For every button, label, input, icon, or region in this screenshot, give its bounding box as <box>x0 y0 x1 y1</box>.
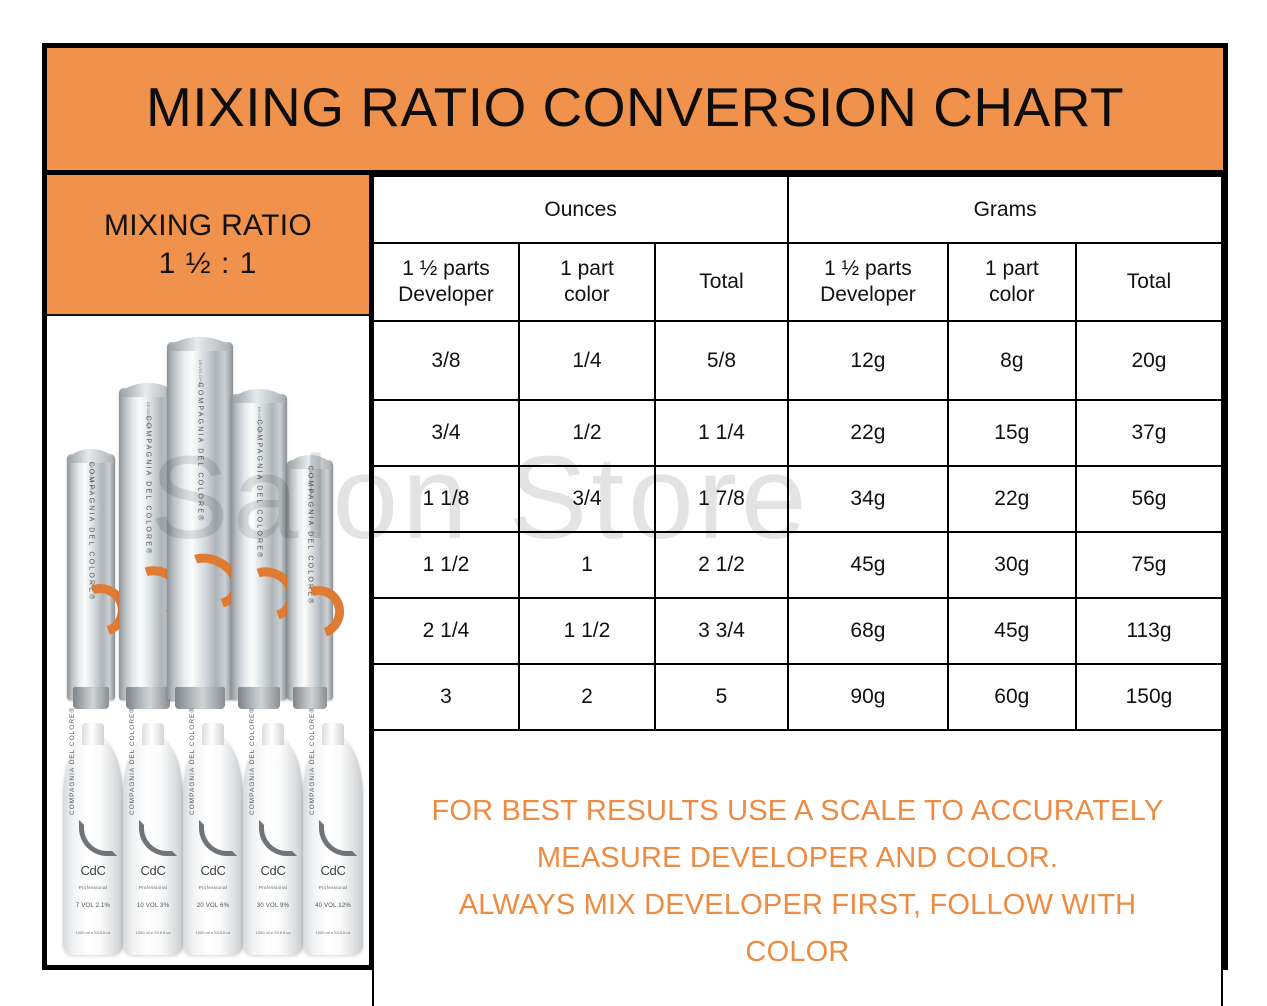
table-cell: 150g <box>1076 664 1222 730</box>
column-header-oz-developer: 1 ½ parts Developer <box>373 243 519 321</box>
column-header-oz-color: 1 part color <box>519 243 655 321</box>
chart-page: MIXING RATIO CONVERSION CHART MIXING RAT… <box>0 0 1267 1006</box>
developer-bottle: COMPAGNIA DEL COLORE® CdC Professional 4… <box>303 737 363 955</box>
bottle-volume-text: 7 VOL 2.1% <box>76 903 110 909</box>
table-cell: 3/4 <box>373 400 519 466</box>
color-tubes-photo: DEVELOPER COMPAGNIA DEL COLORE® DEVELOPE… <box>53 320 366 710</box>
tube-cap <box>73 687 109 709</box>
developer-bottle: COMPAGNIA DEL COLORE® CdC Professional 7… <box>63 737 123 955</box>
table-cell: 56g <box>1076 466 1222 532</box>
table-cell: 60g <box>948 664 1076 730</box>
color-tube: DEVELOPER COMPAGNIA DEL COLORE® <box>167 342 233 700</box>
bottle-neck <box>142 723 165 745</box>
bottle-logo-text: CdC <box>260 863 285 878</box>
footer-note-line2: MEASURE DEVELOPER AND COLOR. <box>404 835 1191 882</box>
bottle-sub-text: Professional <box>79 885 107 890</box>
bottle-neck <box>202 723 225 745</box>
table-cell: 45g <box>948 598 1076 664</box>
column-header-g-developer: 1 ½ parts Developer <box>788 243 948 321</box>
bottle-size-text: 1000 ml e 33.8 fl.oz <box>76 930 111 935</box>
bottle-logo-hook-icon <box>79 820 117 856</box>
table-cell: 3 <box>373 664 519 730</box>
bottle-volume-text: 30 VOL 9% <box>257 903 289 909</box>
bottle-neck <box>322 723 345 745</box>
table-cell: 1/2 <box>519 400 655 466</box>
bottle-logo-hook-icon <box>259 820 297 856</box>
table-cell: 1 <box>519 532 655 598</box>
footer-note-line1: FOR BEST RESULTS USE A SCALE TO ACCURATE… <box>404 788 1191 835</box>
table-cell: 30g <box>948 532 1076 598</box>
table-row: 1 1/8 3/4 1 7/8 34g 22g 56g <box>373 466 1222 532</box>
table-cell: 22g <box>948 466 1076 532</box>
column-header-row: 1 ½ parts Developer 1 part color Total <box>373 243 1222 321</box>
table-cell: 1 7/8 <box>655 466 788 532</box>
tube-brand-text: COMPAGNIA DEL COLORE® <box>307 465 314 605</box>
bottle-volume-text: 10 VOL 3% <box>137 903 169 909</box>
table-cell: 1 1/2 <box>373 532 519 598</box>
tube-brand-text: COMPAGNIA DEL COLORE® <box>256 419 263 559</box>
bottle-neck <box>82 723 105 745</box>
bottle-logo-hook-icon <box>139 820 177 856</box>
bottle-logo-text: CdC <box>80 863 105 878</box>
bottle-brand-text: COMPAGNIA DEL COLORE® <box>309 707 316 815</box>
column-header-line1: 1 part <box>951 256 1073 282</box>
table-cell: 1 1/2 <box>519 598 655 664</box>
table-cell: 2 1/4 <box>373 598 519 664</box>
table-cell: 2 <box>519 664 655 730</box>
color-tube: DEVELOPER COMPAGNIA DEL COLORE® <box>231 394 287 700</box>
tube-cap <box>126 687 170 709</box>
table-cell: 113g <box>1076 598 1222 664</box>
column-header-line1: 1 part <box>522 256 652 282</box>
product-photo-panel: DEVELOPER COMPAGNIA DEL COLORE® DEVELOPE… <box>47 314 369 965</box>
column-header-oz-total: Total <box>655 243 788 321</box>
mixing-ratio-chart: MIXING RATIO CONVERSION CHART MIXING RAT… <box>42 43 1228 970</box>
column-header-g-total: Total <box>1076 243 1222 321</box>
table-cell: 1/4 <box>519 321 655 400</box>
column-header-line1: 1 ½ parts <box>791 256 945 282</box>
table-cell: 45g <box>788 532 948 598</box>
developer-bottle: COMPAGNIA DEL COLORE® CdC Professional 2… <box>183 737 243 955</box>
tube-brand-text: COMPAGNIA DEL COLORE® <box>145 415 152 555</box>
tube-cap <box>293 687 328 709</box>
bottle-brand-text: COMPAGNIA DEL COLORE® <box>129 707 136 815</box>
table-cell: 15g <box>948 400 1076 466</box>
table-row: 2 1/4 1 1/2 3 3/4 68g 45g 113g <box>373 598 1222 664</box>
table-cell: 5/8 <box>655 321 788 400</box>
bottle-brand-text: COMPAGNIA DEL COLORE® <box>249 707 256 815</box>
column-header-line2: color <box>951 282 1073 308</box>
bottle-logo-hook-icon <box>199 820 237 856</box>
unit-group-ounces: Ounces <box>373 176 788 243</box>
table-row: 3 2 5 90g 60g 150g <box>373 664 1222 730</box>
tube-cap <box>238 687 281 709</box>
table-cell: 3/4 <box>519 466 655 532</box>
footer-note: FOR BEST RESULTS USE A SCALE TO ACCURATE… <box>404 788 1191 976</box>
table-cell: 1 1/4 <box>655 400 788 466</box>
column-header-line1: Total <box>1079 269 1219 295</box>
mixing-ratio-value: 1 ½ : 1 <box>159 247 258 281</box>
table-row: 3/4 1/2 1 1/4 22g 15g 37g <box>373 400 1222 466</box>
tube-brand-text: COMPAGNIA DEL COLORE® <box>88 461 95 601</box>
table-cell: 34g <box>788 466 948 532</box>
table-row: 3/8 1/4 5/8 12g 8g 20g <box>373 321 1222 400</box>
table-cell: 3 3/4 <box>655 598 788 664</box>
table-cell: 22g <box>788 400 948 466</box>
footer-note-line4: COLOR <box>404 929 1191 976</box>
chart-title-bar: MIXING RATIO CONVERSION CHART <box>47 48 1223 175</box>
column-header-g-color: 1 part color <box>948 243 1076 321</box>
bottle-size-text: 1000 ml e 33.8 fl.oz <box>256 930 291 935</box>
bottle-size-text: 1000 ml e 33.8 fl.oz <box>196 930 231 935</box>
footer-note-row: FOR BEST RESULTS USE A SCALE TO ACCURATE… <box>373 730 1222 1006</box>
bottle-volume-text: 40 VOL 12% <box>315 903 351 909</box>
table-cell: 20g <box>1076 321 1222 400</box>
bottle-sub-text: Professional <box>319 885 347 890</box>
bottle-neck <box>262 723 285 745</box>
bottle-sub-text: Professional <box>259 885 287 890</box>
bottle-logo-hook-icon <box>319 820 357 856</box>
unit-group-grams: Grams <box>788 176 1222 243</box>
column-header-line2: Developer <box>791 282 945 308</box>
developer-bottle: COMPAGNIA DEL COLORE® CdC Professional 1… <box>123 737 183 955</box>
mixing-ratio-header: MIXING RATIO 1 ½ : 1 <box>47 175 369 314</box>
page-title: MIXING RATIO CONVERSION CHART <box>146 75 1124 139</box>
left-panel: MIXING RATIO 1 ½ : 1 DEVELOPER COMPAGNIA… <box>47 175 372 965</box>
bottle-volume-text: 20 VOL 6% <box>197 903 229 909</box>
bottle-size-text: 1000 ml e 33.8 fl.oz <box>136 930 171 935</box>
tube-orange-arc <box>285 577 353 646</box>
column-header-line2: Developer <box>376 282 516 308</box>
developer-bottles-photo: COMPAGNIA DEL COLORE® CdC Professional 7… <box>55 713 366 961</box>
table-cell: 8g <box>948 321 1076 400</box>
bottle-size-text: 1000 ml e 33.8 fl.oz <box>316 930 351 935</box>
table-cell: 68g <box>788 598 948 664</box>
tube-brand-text: COMPAGNIA DEL COLORE® <box>197 383 204 523</box>
bottle-brand-text: COMPAGNIA DEL COLORE® <box>189 707 196 815</box>
color-tube: DEVELOPER COMPAGNIA DEL COLORE® <box>287 460 333 700</box>
column-header-line2: color <box>522 282 652 308</box>
developer-bottle: COMPAGNIA DEL COLORE® CdC Professional 3… <box>243 737 303 955</box>
tube-cap <box>175 687 225 709</box>
bottle-logo-text: CdC <box>320 863 345 878</box>
table-row: 1 1/2 1 2 1/2 45g 30g 75g <box>373 532 1222 598</box>
table-cell: 1 1/8 <box>373 466 519 532</box>
conversion-table: Ounces Grams 1 ½ parts Developer 1 part … <box>372 175 1223 1006</box>
bottle-brand-text: COMPAGNIA DEL COLORE® <box>69 707 76 815</box>
mixing-ratio-label: MIXING RATIO <box>104 209 312 243</box>
tube-shoulder <box>169 337 231 351</box>
conversion-table-panel: Ounces Grams 1 ½ parts Developer 1 part … <box>372 175 1223 965</box>
bottle-sub-text: Professional <box>139 885 167 890</box>
color-tube: DEVELOPER COMPAGNIA DEL COLORE® <box>67 454 115 700</box>
bottle-logo-text: CdC <box>200 863 225 878</box>
table-cell: 37g <box>1076 400 1222 466</box>
column-header-line1: Total <box>658 269 785 295</box>
table-cell: 5 <box>655 664 788 730</box>
table-cell: 90g <box>788 664 948 730</box>
footer-note-line3: ALWAYS MIX DEVELOPER FIRST, FOLLOW WITH <box>404 882 1191 929</box>
footer-note-cell: FOR BEST RESULTS USE A SCALE TO ACCURATE… <box>373 730 1222 1006</box>
column-header-line1: 1 ½ parts <box>376 256 516 282</box>
table-cell: 75g <box>1076 532 1222 598</box>
unit-group-header-row: Ounces Grams <box>373 176 1222 243</box>
table-cell: 3/8 <box>373 321 519 400</box>
bottle-logo-text: CdC <box>140 863 165 878</box>
table-cell: 12g <box>788 321 948 400</box>
chart-body: MIXING RATIO 1 ½ : 1 DEVELOPER COMPAGNIA… <box>47 175 1223 965</box>
bottle-sub-text: Professional <box>199 885 227 890</box>
table-cell: 2 1/2 <box>655 532 788 598</box>
